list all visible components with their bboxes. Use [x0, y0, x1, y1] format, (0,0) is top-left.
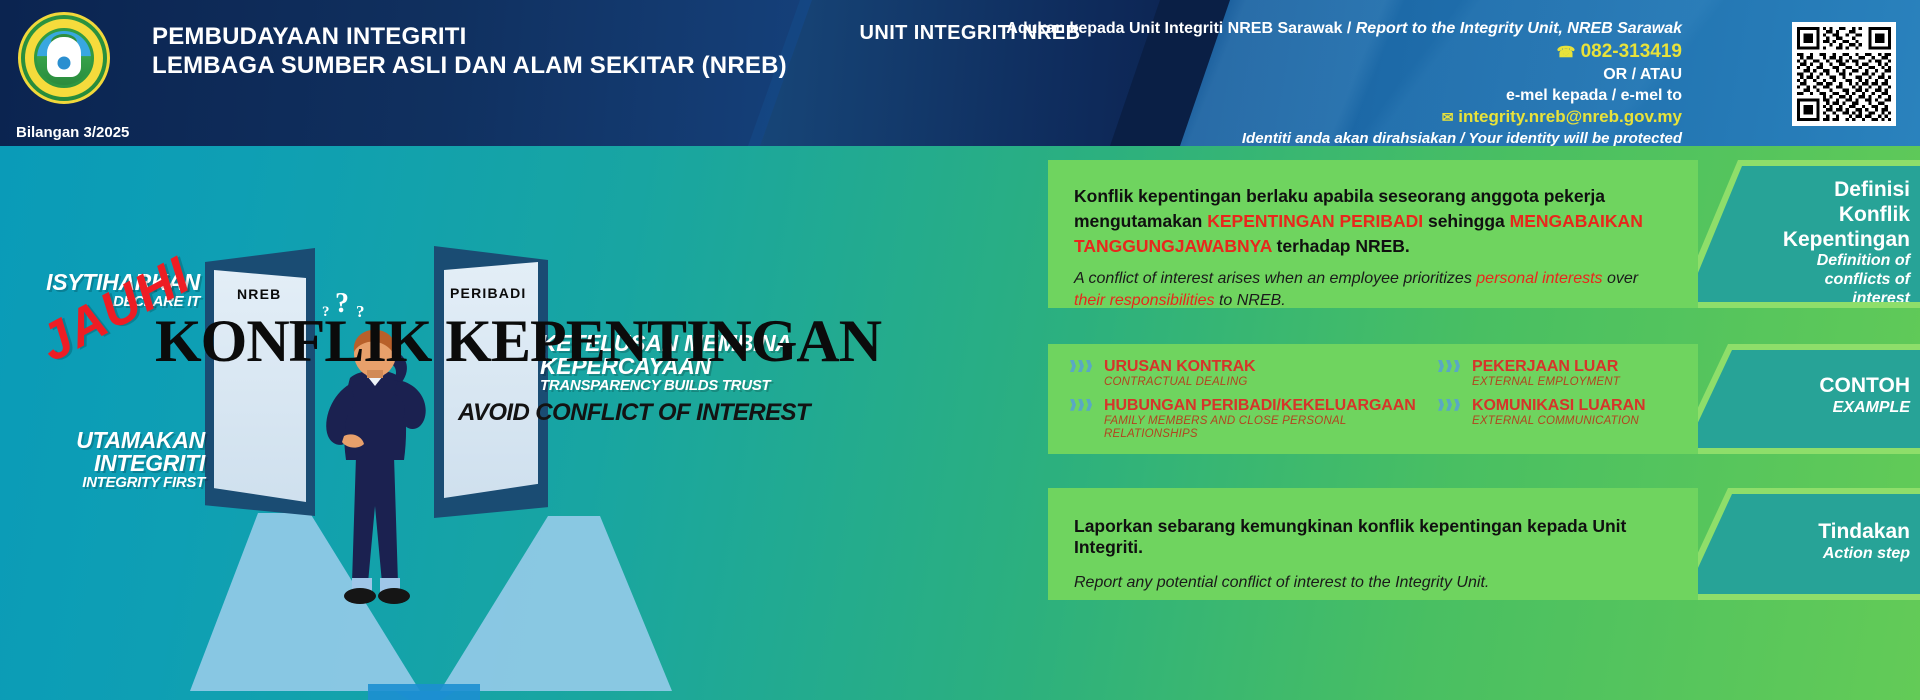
- report-separator: /: [1347, 20, 1351, 37]
- example-ms: URUSAN KONTRAK: [1104, 358, 1420, 376]
- illus-label-integrity: UTAMAKAN INTEGRITI INTEGRITY FIRST: [0, 429, 205, 490]
- examples-card: URUSAN KONTRAK CONTRACTUAL DEALING HUBUN…: [1048, 344, 1698, 454]
- example-ms: KOMUNIKASI LUARAN: [1472, 397, 1688, 415]
- example-item: URUSAN KONTRAK CONTRACTUAL DEALING: [1070, 358, 1420, 390]
- header-org-title: PEMBUDAYAAN INTEGRITI LEMBAGA SUMBER ASL…: [152, 22, 787, 81]
- report-line: Adukan kepada Unit Integriti NREB Sarawa…: [1006, 18, 1682, 39]
- definition-ms-part3: terhadap NREB.: [1272, 236, 1410, 256]
- page-title: KONFLIK KEPENTINGAN: [155, 307, 881, 376]
- double-arrow-icon: [1070, 399, 1098, 412]
- page-subtitle: AVOID CONFLICT OF INTEREST: [458, 399, 810, 427]
- identity-protection-note: Identiti anda akan dirahsiakan / Your id…: [1006, 129, 1682, 146]
- example-ms: PEKERJAAN LUAR: [1472, 358, 1688, 376]
- contact-email: integrity.nreb@nreb.gov.my: [1458, 107, 1682, 126]
- action-text-en: Report any potential conflict of interes…: [1074, 574, 1672, 592]
- example-item: HUBUNGAN PERIBADI/KEKELUARGAAN FAMILY ME…: [1070, 397, 1420, 443]
- org-line-1: PEMBUDAYAAN INTEGRITI: [152, 22, 787, 51]
- person-illustration: [298, 328, 498, 648]
- org-line-2: LEMBAGA SUMBER ASLI DAN ALAM SEKITAR (NR…: [152, 51, 787, 80]
- action-tab-en: Action step: [1686, 545, 1910, 564]
- example-ms: HUBUNGAN PERIBADI/KEKELUARGAAN: [1104, 397, 1420, 415]
- definition-text-en: A conflict of interest arises when an em…: [1074, 268, 1672, 313]
- definition-tab-ms-1: Definisi: [1686, 178, 1910, 203]
- email-label: e-mel kepada / e-mel to: [1006, 85, 1682, 106]
- definition-tab: Definisi Konflik Kepentingan Definition …: [1686, 166, 1920, 302]
- definition-ms-part2: sehingga: [1423, 211, 1510, 231]
- contact-phone: 082-313419: [1581, 41, 1682, 62]
- illus-label-integrity-en: INTEGRITY FIRST: [0, 475, 205, 490]
- examples-tab-ms: CONTOH: [1686, 374, 1910, 399]
- definition-tab-ms-3: Kepentingan: [1686, 228, 1910, 253]
- example-en: EXTERNAL COMMUNICATION: [1472, 415, 1688, 429]
- example-item: KOMUNIKASI LUARAN EXTERNAL COMMUNICATION: [1438, 397, 1688, 429]
- contact-phone-line[interactable]: ☎ 082-313419: [1006, 39, 1682, 64]
- examples-column-right: PEKERJAAN LUAR EXTERNAL EMPLOYMENT KOMUN…: [1438, 358, 1688, 435]
- illus-label-integrity-ms: UTAMAKAN INTEGRITI: [0, 429, 205, 475]
- illus-label-transparency-en: TRANSPARENCY BUILDS TRUST: [540, 378, 800, 393]
- examples-tab-en: EXAMPLE: [1686, 399, 1910, 418]
- nreb-logo: [18, 12, 110, 104]
- example-en: CONTRACTUAL DEALING: [1104, 376, 1420, 390]
- definition-en-part3: to NREB.: [1215, 292, 1286, 309]
- header-contact-block: Adukan kepada Unit Integriti NREB Sarawa…: [1006, 18, 1682, 146]
- contact-email-line[interactable]: ✉ integrity.nreb@nreb.gov.my: [1006, 106, 1682, 128]
- action-text-ms: Laporkan sebarang kemungkinan konflik ke…: [1074, 516, 1672, 558]
- issue-number: Bilangan 3/2025: [16, 124, 129, 141]
- action-card: Laporkan sebarang kemungkinan konflik ke…: [1048, 488, 1698, 600]
- definition-tab-en-2: conflicts of: [1686, 271, 1910, 290]
- example-item: PEKERJAAN LUAR EXTERNAL EMPLOYMENT: [1438, 358, 1688, 390]
- action-tab-ms: Tindakan: [1686, 520, 1910, 545]
- or-label: OR / ATAU: [1006, 64, 1682, 85]
- door-nreb-label: NREB: [237, 286, 281, 302]
- definition-en-part1: A conflict of interest arises when an em…: [1074, 270, 1476, 287]
- definition-text-ms: Konflik kepentingan berlaku apabila sese…: [1074, 184, 1672, 259]
- definition-en-red1: personal interests: [1476, 270, 1602, 287]
- page-header: PEMBUDAYAAN INTEGRITI LEMBAGA SUMBER ASL…: [0, 0, 1920, 146]
- double-arrow-icon: [1438, 399, 1466, 412]
- report-label-en: Report to the Integrity Unit, NREB Saraw…: [1356, 20, 1682, 37]
- definition-card: Konflik kepentingan berlaku apabila sese…: [1048, 160, 1698, 308]
- double-arrow-icon: [1070, 360, 1098, 373]
- qr-code[interactable]: [1792, 22, 1896, 126]
- definition-tab-en-1: Definition of: [1686, 252, 1910, 271]
- definition-en-red2: their responsibilities: [1074, 292, 1215, 309]
- poster-body: JAUHI KONFLIK KEPENTINGAN AVOID CONFLICT…: [0, 146, 1920, 700]
- example-en: EXTERNAL EMPLOYMENT: [1472, 376, 1688, 390]
- double-arrow-icon: [1438, 360, 1466, 373]
- examples-column-left: URUSAN KONTRAK CONTRACTUAL DEALING HUBUN…: [1070, 358, 1420, 449]
- envelope-icon: ✉: [1442, 109, 1454, 125]
- door-peribadi-label: PERIBADI: [450, 285, 527, 301]
- report-label-ms: Adukan kepada Unit Integriti NREB Sarawa…: [1006, 20, 1342, 37]
- example-en: FAMILY MEMBERS AND CLOSE PERSONAL RELATI…: [1104, 415, 1420, 443]
- phone-icon: ☎: [1557, 44, 1576, 61]
- definition-en-part2: over: [1603, 270, 1639, 287]
- definition-ms-red1: KEPENTINGAN PERIBADI: [1207, 211, 1423, 231]
